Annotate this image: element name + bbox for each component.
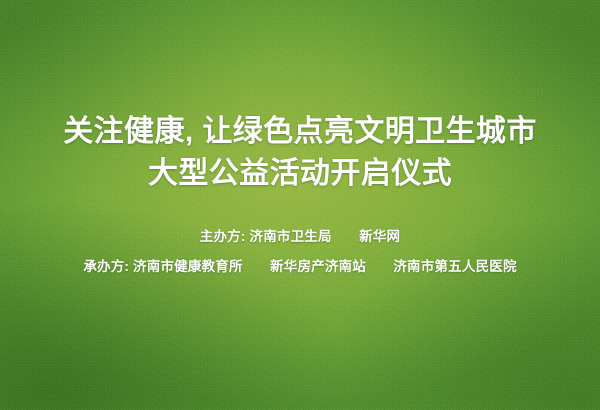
title-line-1: 关注健康, 让绿色点亮文明卫生城市: [0, 111, 600, 153]
poster-content: 关注健康, 让绿色点亮文明卫生城市 大型公益活动开启仪式 主办方: 济南市卫生局…: [0, 0, 600, 410]
credit-line-co-organizer: 承办方: 济南市健康教育所 新华房产济南站 济南市第五人民医院: [0, 252, 600, 282]
poster-credits: 主办方: 济南市卫生局 新华网 承办方: 济南市健康教育所 新华房产济南站 济南…: [0, 222, 600, 282]
poster-banner: 关注健康, 让绿色点亮文明卫生城市 大型公益活动开启仪式 主办方: 济南市卫生局…: [0, 0, 600, 410]
poster-title: 关注健康, 让绿色点亮文明卫生城市 大型公益活动开启仪式: [0, 111, 600, 195]
title-line-2: 大型公益活动开启仪式: [0, 153, 600, 195]
credit-line-organizer: 主办方: 济南市卫生局 新华网: [0, 222, 600, 252]
